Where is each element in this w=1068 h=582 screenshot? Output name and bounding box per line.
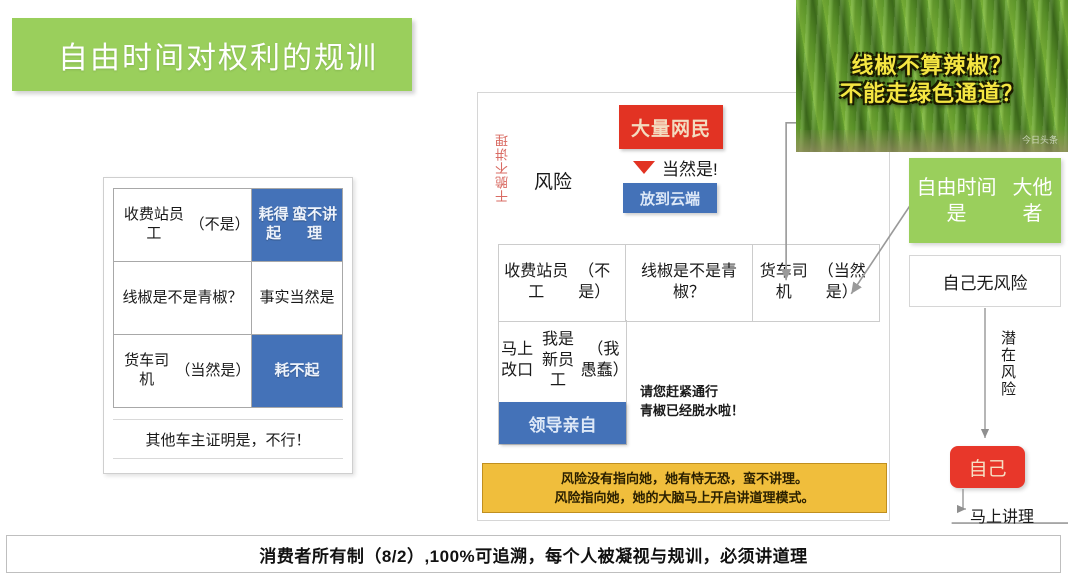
center-cell-question: 线椒是不是青椒？	[626, 245, 753, 321]
center-cell-staff: 收费站员工（不是）	[499, 245, 626, 321]
caption-line-2: 不能走绿色通道？	[796, 80, 1068, 108]
orange-line-1: 风险没有指向她，她有恃无恐，蛮不讲理。	[561, 469, 808, 489]
orange-summary-banner: 风险没有指向她，她有恃无恐，蛮不讲理。 风险指向她，她的大脑马上开启讲道理模式。	[482, 463, 887, 513]
no-risk-box: 自己无风险	[909, 255, 1061, 307]
page-title: 自由时间对权利的规训	[12, 33, 378, 77]
table-row: 货车司机（当然是） 耗不起	[114, 335, 342, 408]
left-cell-verdict-3: 耗不起	[252, 335, 342, 407]
left-cell-verdict-2: 事实当然是	[252, 262, 342, 334]
caption-line-1: 线椒不算辣椒？	[796, 52, 1068, 80]
self-box: 自己	[950, 446, 1025, 488]
cloud-box: 放到云端	[623, 183, 717, 213]
netizens-box: 大量网民	[619, 105, 723, 149]
left-cell-role-2: 线椒是不是青椒？	[114, 262, 252, 334]
left-cell-verdict-1: 耗得起蛮不讲理	[252, 189, 342, 261]
center-cell-driver: 货车司机（当然是）	[753, 245, 879, 321]
plea-line-2: 青椒已经脱水啦！	[640, 402, 744, 421]
photo-watermark: 今日头条	[1022, 133, 1058, 146]
chili-photo-caption: 线椒不算辣椒？ 不能走绿色通道？	[796, 52, 1068, 108]
table-row: 收费站员工（不是） 线椒是不是青椒？ 货车司机（当然是）	[498, 244, 880, 322]
left-matrix-card: 收费站员工（不是） 耗得起蛮不讲理 线椒是不是青椒？ 事实当然是 货车司机（当然…	[103, 177, 353, 474]
center-table: 收费站员工（不是） 线椒是不是青椒？ 货车司机（当然是）	[498, 244, 880, 322]
plea-line-1: 请您赶紧通行	[640, 383, 744, 402]
center-risk-label: 风险	[534, 167, 572, 194]
left-matrix-footer: 其他车主证明是，不行！	[113, 419, 343, 459]
left-matrix-grid: 收费站员工（不是） 耗得起蛮不讲理 线椒是不是青椒？ 事实当然是 货车司机（当然…	[113, 188, 343, 408]
center-cell-newemployee: 马上改口我是新员工（我愚蠢）	[499, 320, 626, 402]
bottom-banner: 消费者所有制（8/2）,100%可追溯，每个人被凝视与规训，必须讲道理	[6, 535, 1061, 573]
orange-line-2: 风险指向她，她的大脑马上开启讲道理模式。	[554, 488, 814, 508]
triangle-down-icon	[633, 161, 655, 174]
chili-photo: 线椒不算辣椒？ 不能走绿色通道？ 今日头条	[796, 0, 1068, 152]
table-row: 线椒是不是青椒？ 事实当然是	[114, 262, 342, 335]
leader-box: 领导亲自	[499, 402, 626, 444]
latent-risk-label: 潜在风险	[1000, 330, 1015, 398]
of-course-label: 当然是!	[662, 155, 718, 180]
left-cell-role-3: 货车司机（当然是）	[114, 335, 252, 407]
center-vertical-label: 干脆不讲理	[496, 133, 512, 203]
of-course-marker: 当然是!	[633, 155, 718, 180]
title-banner: 自由时间对权利的规训	[12, 18, 412, 91]
big-other-box: 自由时间是大他者	[909, 158, 1061, 243]
reason-now-label: 马上讲理	[970, 503, 1034, 527]
center-diagram-panel: 干脆不讲理 风险 大量网民 当然是! 放到云端 收费站员工（不是） 线椒是不是青…	[477, 92, 890, 521]
driver-plea-note: 请您赶紧通行 青椒已经脱水啦！	[640, 383, 744, 421]
left-cell-role-1: 收费站员工（不是）	[114, 189, 252, 261]
slide-canvas: 自由时间对权利的规训 收费站员工（不是） 耗得起蛮不讲理 线椒是不是青椒？ 事实…	[0, 0, 1068, 582]
table-row: 收费站员工（不是） 耗得起蛮不讲理	[114, 189, 342, 262]
center-left-lower-block: 马上改口我是新员工（我愚蠢） 领导亲自	[498, 320, 627, 445]
